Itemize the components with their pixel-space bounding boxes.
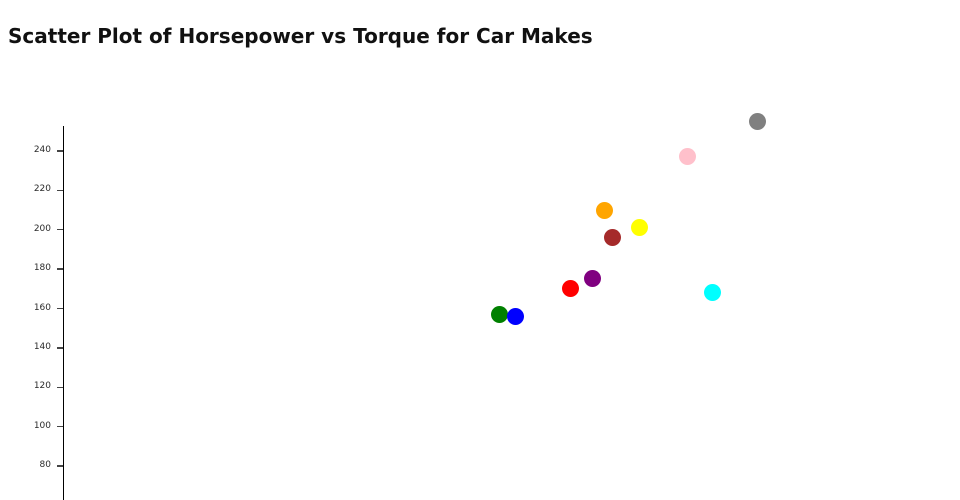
y-axis-tick-label: 80: [11, 460, 51, 470]
y-axis-tick-mark: [57, 347, 63, 348]
chart-figure: Scatter Plot of Horsepower vs Torque for…: [0, 0, 960, 500]
y-axis-tick-mark: [57, 308, 63, 309]
y-axis-spine: [63, 126, 64, 500]
y-axis-tick-mark: [57, 465, 63, 466]
point-orange[interactable]: [596, 202, 613, 219]
point-pink[interactable]: [679, 148, 696, 165]
scatter-plot-area: 24022020018016014012010080: [0, 0, 960, 500]
y-axis-tick-mark: [57, 268, 63, 269]
point-cyan[interactable]: [704, 284, 721, 301]
point-gray[interactable]: [749, 113, 766, 130]
y-axis-tick-mark: [57, 150, 63, 151]
y-axis-tick-label: 100: [11, 421, 51, 431]
y-axis-tick-mark: [57, 426, 63, 427]
point-brown[interactable]: [604, 229, 621, 246]
y-axis-tick-label: 220: [11, 184, 51, 194]
y-axis-tick-label: 120: [11, 381, 51, 391]
y-axis-tick-label: 240: [11, 145, 51, 155]
y-axis-tick-mark: [57, 229, 63, 230]
y-axis-tick-label: 140: [11, 342, 51, 352]
point-blue[interactable]: [507, 308, 524, 325]
y-axis-tick-label: 200: [11, 224, 51, 234]
y-axis-tick-mark: [57, 190, 63, 191]
y-axis-tick-label: 160: [11, 303, 51, 313]
point-red[interactable]: [562, 280, 579, 297]
point-purple[interactable]: [584, 270, 601, 287]
point-yellow[interactable]: [631, 219, 648, 236]
point-green[interactable]: [491, 306, 508, 323]
y-axis-tick-mark: [57, 387, 63, 388]
y-axis-tick-label: 180: [11, 263, 51, 273]
